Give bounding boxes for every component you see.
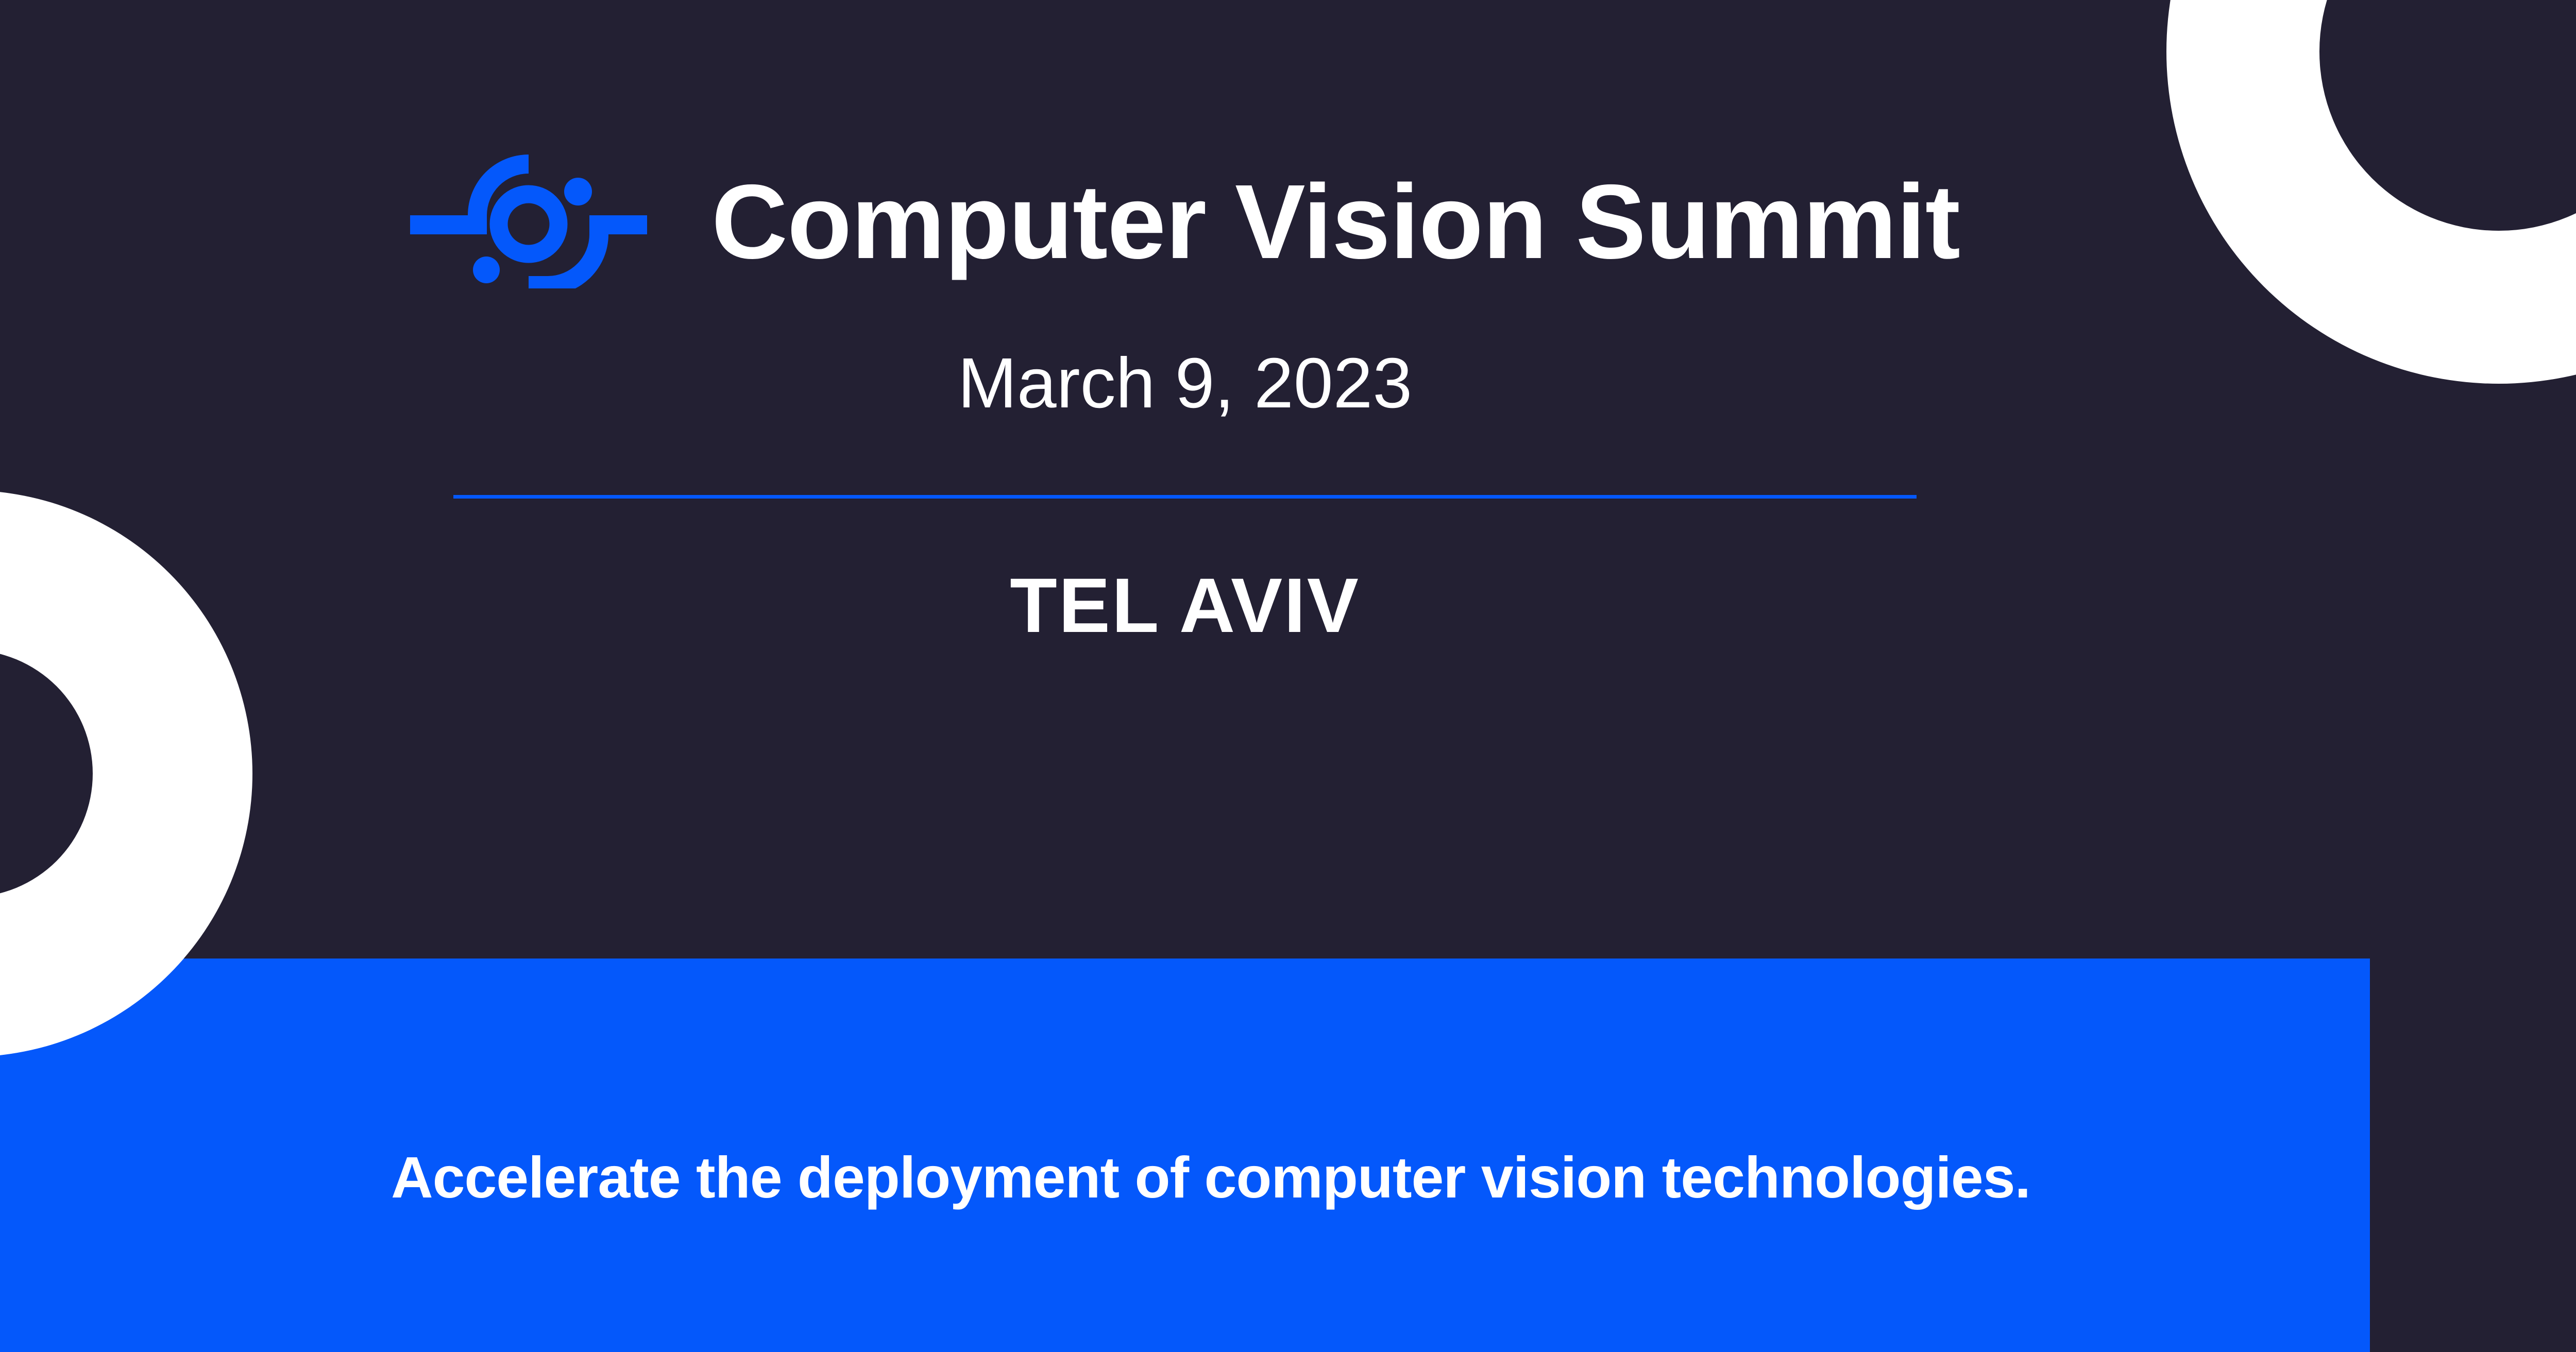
tagline-container: Accelerate the deployment of computer vi… bbox=[0, 959, 2421, 1352]
page-title: Computer Vision Summit bbox=[711, 169, 1960, 275]
event-city: TEL AVIV bbox=[1010, 567, 1360, 644]
event-date: March 9, 2023 bbox=[958, 348, 1412, 419]
event-banner: Computer Vision Summit March 9, 2023 TEL… bbox=[0, 0, 2576, 1352]
divider bbox=[453, 495, 1917, 499]
title-row: Computer Vision Summit bbox=[410, 155, 1960, 288]
hero-content: Computer Vision Summit March 9, 2023 TEL… bbox=[0, 0, 2370, 959]
tagline: Accelerate the deployment of computer vi… bbox=[391, 1149, 2030, 1207]
computer-vision-summit-logo-icon bbox=[410, 155, 647, 288]
